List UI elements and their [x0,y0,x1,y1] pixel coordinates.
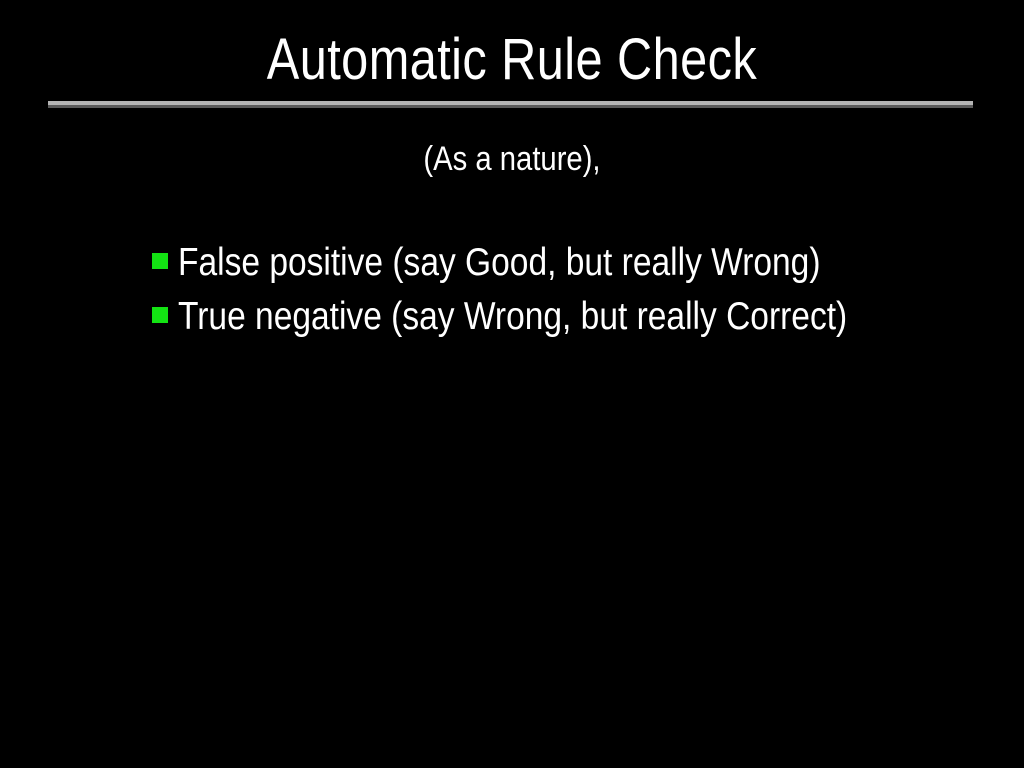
title-divider-shadow [48,105,973,108]
slide-subtitle: (As a nature), [72,138,953,180]
title-divider [48,101,973,108]
list-item: False positive (say Good, but really Wro… [152,238,1002,292]
page-title: Automatic Rule Check [82,28,942,92]
list-item-label: False positive (say Good, but really Wro… [178,238,821,288]
bullet-list: False positive (say Good, but really Wro… [152,238,1002,346]
green-square-bullet-icon [152,307,168,323]
list-item-label: True negative (say Wrong, but really Cor… [178,292,847,342]
list-item: True negative (say Wrong, but really Cor… [152,292,1002,346]
presentation-slide: Automatic Rule Check (As a nature), Fals… [0,0,1024,768]
green-square-bullet-icon [152,253,168,269]
